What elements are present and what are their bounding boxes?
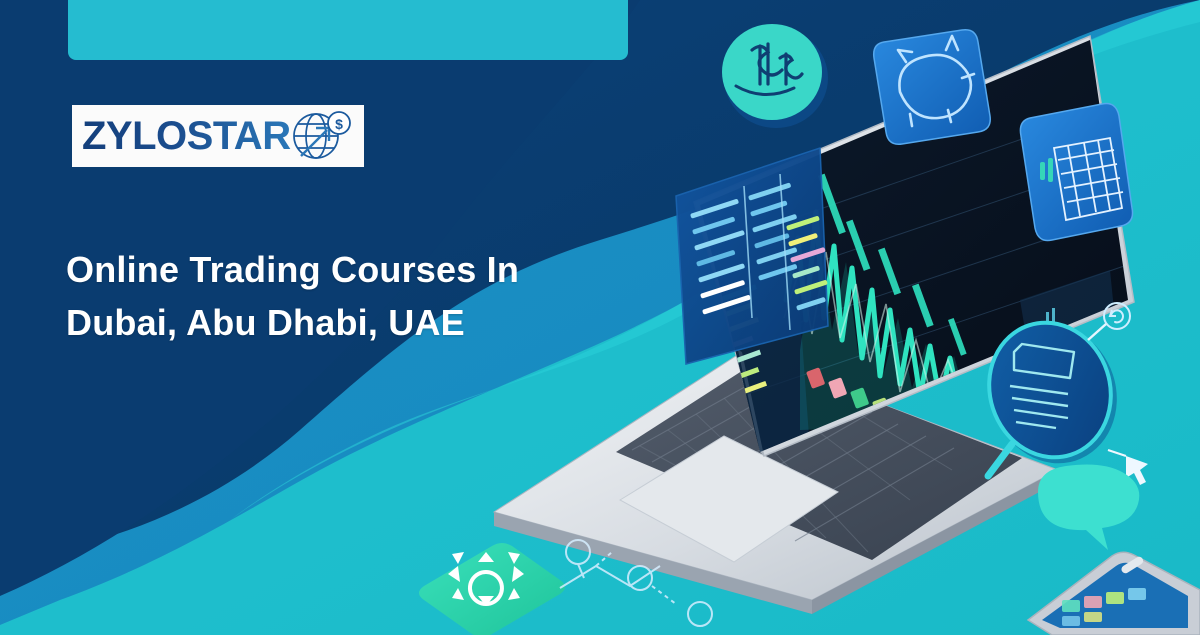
svg-text:$: $ [335,116,343,132]
floating-data-panel [676,148,828,364]
currency-badge-icon [722,24,828,128]
headline-line-2: Dubai, Abu Dhabi, UAE [66,296,586,349]
promo-banner: ZYLOSTAR $ Online Trading Courses In Dub… [0,0,1200,635]
building-grid-card-icon [1020,104,1132,241]
logo[interactable]: ZYLOSTAR $ [72,105,364,167]
network-hub-card-icon [419,543,565,635]
globe-arrow-dollar-icon: $ [287,108,353,164]
speech-bubble-icon [1038,464,1139,550]
top-teal-bar [68,0,628,60]
page-title: Online Trading Courses In Dubai, Abu Dha… [66,243,586,350]
headline-line-1: Online Trading Courses In [66,243,586,296]
smartphone-device [1028,552,1200,635]
logo-text: ZYLOSTAR [82,116,291,156]
piggy-bank-card-icon [874,30,991,145]
